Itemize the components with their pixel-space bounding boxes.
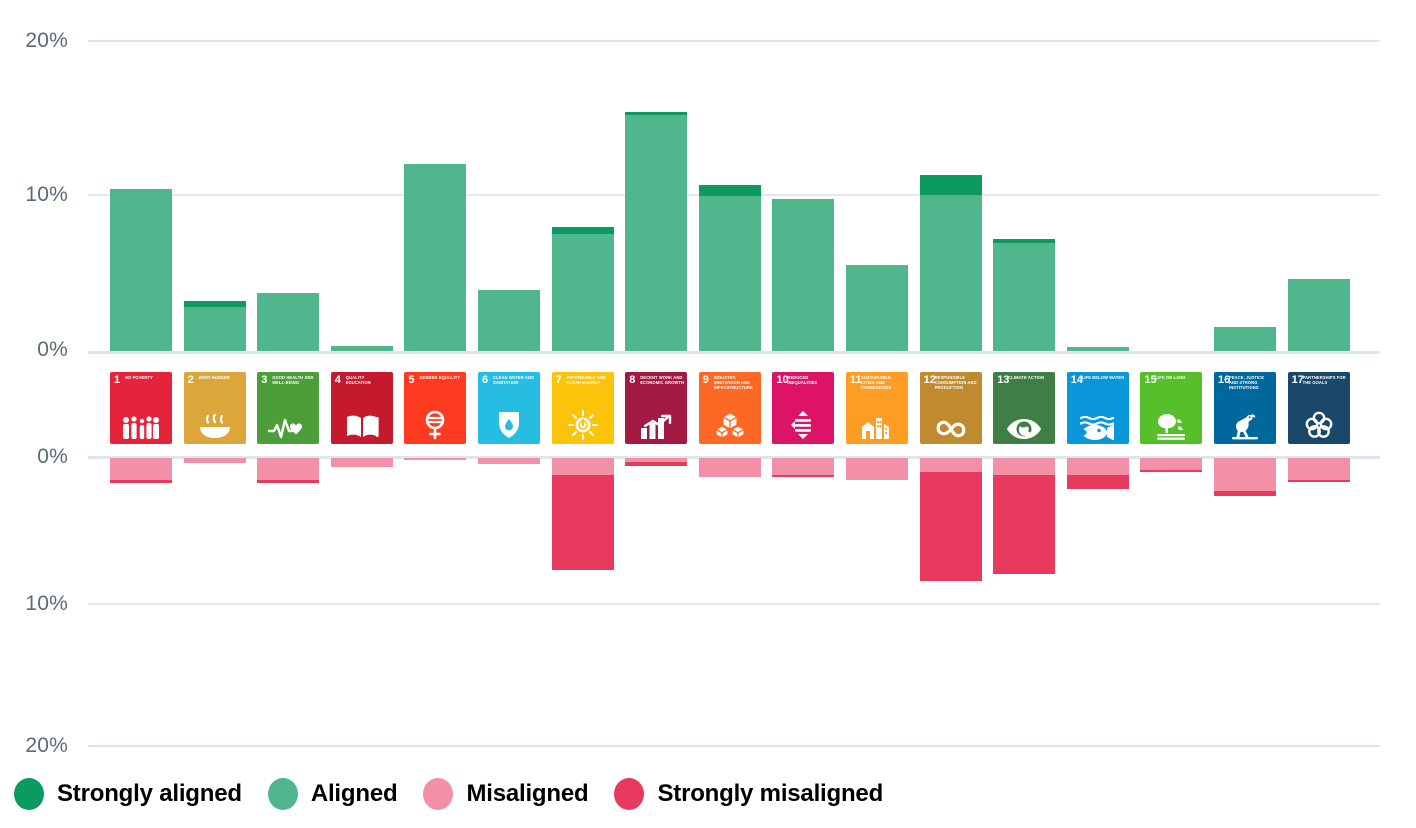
segment-misaligned-sdg-9 [699, 458, 761, 477]
chart-legend: Strongly alignedAlignedMisalignedStrongl… [14, 772, 909, 816]
bar-negative-sdg-15 [1140, 458, 1202, 472]
segment-aligned-sdg-17 [1288, 279, 1350, 351]
sdg-icon-5[interactable]: 5Gender Equality [404, 372, 466, 444]
sdg-number-9: 9 [703, 375, 709, 386]
bar-positive-sdg-4 [331, 346, 393, 351]
segment-aligned-sdg-13 [993, 243, 1055, 351]
segment-strongly-misaligned-sdg-3 [257, 480, 319, 484]
legend-item-aligned[interactable]: Aligned [268, 778, 398, 810]
segment-aligned-sdg-16 [1214, 327, 1276, 351]
city-icon [846, 412, 908, 440]
legend-label-aligned: Aligned [311, 780, 398, 808]
bar-positive-sdg-2 [184, 301, 246, 351]
segment-strongly-misaligned-sdg-10 [772, 475, 834, 477]
sdg-title-2: Zero Hunger [199, 376, 243, 381]
sdg-icon-3[interactable]: 3Good Health and Well-being [257, 372, 319, 444]
segment-misaligned-sdg-4 [331, 458, 393, 467]
segment-misaligned-sdg-5 [404, 458, 466, 460]
sdg-icon-8[interactable]: 8Decent Work and Economic Growth [625, 372, 687, 444]
sdg-number-3: 3 [261, 375, 267, 386]
bar-negative-sdg-9 [699, 458, 761, 477]
segment-aligned-sdg-12 [920, 195, 982, 351]
bar-negative-sdg-16 [1214, 458, 1276, 496]
bar-positive-sdg-6 [478, 290, 540, 351]
bar-positive-sdg-7 [552, 227, 614, 351]
segment-strongly-misaligned-sdg-17 [1288, 480, 1350, 483]
segment-strongly-misaligned-sdg-16 [1214, 491, 1276, 496]
water-icon [478, 410, 540, 440]
sdg-icon-15[interactable]: 15Life on Land [1140, 372, 1202, 444]
sdg-icon-9[interactable]: 9Industry, Innovation and Infrastructure [699, 372, 761, 444]
sdg-title-3: Good Health and Well-being [272, 376, 316, 386]
bar-positive-sdg-1 [110, 189, 172, 351]
sdg-icon-row: 1No Poverty2Zero Hunger3Good Health and … [0, 372, 1416, 444]
bar-positive-sdg-3 [257, 293, 319, 351]
sdg-number-7: 7 [556, 375, 562, 386]
segment-aligned-sdg-2 [184, 307, 246, 351]
sdg-icon-17[interactable]: 17Partnerships for the Goals [1288, 372, 1350, 444]
legend-swatch-strongly_aligned [14, 778, 44, 810]
sdg-title-14: Life Below Water [1082, 376, 1126, 381]
segment-misaligned-sdg-11 [846, 458, 908, 480]
sdg-title-12: Responsible Consumption and Production [935, 376, 979, 390]
heartbeat-icon [257, 413, 319, 440]
bar-negative-sdg-4 [331, 458, 393, 467]
sdg-icon-6[interactable]: 6Clean Water and Sanitation [478, 372, 540, 444]
sdg-title-11: Sustainable Cities and Communities [861, 376, 905, 390]
sdg-number-5: 5 [408, 375, 414, 386]
bar-positive-sdg-16 [1214, 327, 1276, 351]
bar-positive-sdg-9 [699, 185, 761, 351]
tree-icon [1140, 411, 1202, 440]
segment-aligned-sdg-4 [331, 346, 393, 351]
sdg-icon-11[interactable]: 11Sustainable Cities and Communities [846, 372, 908, 444]
legend-label-strongly_misaligned: Strongly misaligned [657, 780, 883, 808]
bar-positive-sdg-17 [1288, 279, 1350, 351]
bar-negative-sdg-14 [1067, 458, 1129, 489]
cubes-icon [699, 411, 761, 440]
segment-misaligned-sdg-7 [552, 458, 614, 475]
bar-positive-sdg-11 [846, 265, 908, 351]
sdg-icon-4[interactable]: 4Quality Education [331, 372, 393, 444]
sdg-icon-1[interactable]: 1No Poverty [110, 372, 172, 444]
bar-negative-sdg-7 [552, 458, 614, 570]
bar-negative-sdg-6 [478, 458, 540, 464]
legend-swatch-strongly_misaligned [614, 778, 644, 810]
segment-strongly-aligned-sdg-9 [699, 185, 761, 197]
legend-label-misaligned: Misaligned [466, 780, 588, 808]
sdg-title-10: Reduced Inequalities [787, 376, 831, 386]
segment-strongly-misaligned-sdg-7 [552, 475, 614, 570]
sdg-title-5: Gender Equality [419, 376, 463, 381]
legend-item-strongly_misaligned[interactable]: Strongly misaligned [614, 778, 883, 810]
fish-icon [1067, 412, 1129, 440]
segment-misaligned-sdg-2 [184, 458, 246, 463]
segment-strongly-aligned-sdg-12 [920, 175, 982, 194]
segment-strongly-misaligned-sdg-8 [625, 462, 687, 466]
sdg-number-1: 1 [114, 375, 120, 386]
gender-icon [404, 410, 466, 440]
segment-aligned-sdg-9 [699, 196, 761, 351]
segment-strongly-misaligned-sdg-15 [1140, 470, 1202, 471]
segment-misaligned-sdg-3 [257, 458, 319, 480]
sdg-number-4: 4 [335, 375, 341, 386]
segment-misaligned-sdg-6 [478, 458, 540, 464]
segment-aligned-sdg-11 [846, 265, 908, 351]
legend-swatch-aligned [268, 778, 298, 810]
sdg-number-11: 11 [850, 375, 862, 386]
segment-strongly-misaligned-sdg-13 [993, 475, 1055, 574]
sdg-alignment-chart: 20% 10% 0% 0% 10% 20% 1No Poverty2Zero H… [0, 0, 1416, 828]
segment-misaligned-sdg-1 [110, 458, 172, 480]
sdg-number-6: 6 [482, 375, 488, 386]
sdg-title-1: No Poverty [125, 376, 169, 381]
segment-misaligned-sdg-16 [1214, 458, 1276, 491]
sdg-title-15: Life on Land [1155, 376, 1199, 381]
segment-strongly-misaligned-sdg-12 [920, 472, 982, 581]
legend-item-strongly_aligned[interactable]: Strongly aligned [14, 778, 242, 810]
book-icon [331, 412, 393, 440]
bar-negative-sdg-12 [920, 458, 982, 581]
segment-misaligned-sdg-12 [920, 458, 982, 472]
infinity-icon [920, 414, 982, 440]
bar-positive-sdg-13 [993, 239, 1055, 351]
legend-label-strongly_aligned: Strongly aligned [57, 780, 242, 808]
sdg-title-17: Partnerships for the Goals [1303, 376, 1347, 386]
segment-misaligned-sdg-17 [1288, 458, 1350, 480]
sdg-title-13: Climate Action [1008, 376, 1052, 381]
bar-negative-sdg-11 [846, 458, 908, 480]
growth-icon [625, 412, 687, 440]
segment-aligned-sdg-5 [404, 164, 466, 351]
sdg-icon-12[interactable]: 12Responsible Consumption and Production [920, 372, 982, 444]
sdg-title-4: Quality Education [346, 376, 390, 386]
bar-negative-sdg-1 [110, 458, 172, 483]
sun-icon [552, 410, 614, 440]
bar-positive-sdg-5 [404, 164, 466, 351]
sdg-title-9: Industry, Innovation and Infrastructure [714, 376, 758, 390]
sdg-title-7: Affordable and Clean Energy [567, 376, 611, 386]
bar-positive-sdg-8 [625, 112, 687, 351]
bowl-icon [184, 412, 246, 440]
segment-aligned-sdg-1 [110, 189, 172, 351]
segment-aligned-sdg-10 [772, 199, 834, 351]
bar-negative-sdg-8 [625, 458, 687, 466]
sdg-title-6: Clean Water and Sanitation [493, 376, 537, 386]
rings-icon [1288, 410, 1350, 440]
legend-item-misaligned[interactable]: Misaligned [423, 778, 588, 810]
segment-misaligned-sdg-10 [772, 458, 834, 475]
legend-swatch-misaligned [423, 778, 453, 810]
sdg-icon-16[interactable]: 16Peace, Justice and Strong Institutions [1214, 372, 1276, 444]
segment-aligned-sdg-6 [478, 290, 540, 351]
sdg-icon-2[interactable]: 2Zero Hunger [184, 372, 246, 444]
segment-misaligned-sdg-14 [1067, 458, 1129, 475]
sdg-title-8: Decent Work and Economic Growth [640, 376, 684, 386]
bar-negative-sdg-2 [184, 458, 246, 463]
eye-icon [993, 414, 1055, 440]
dove-icon [1214, 411, 1276, 440]
segment-aligned-sdg-8 [625, 115, 687, 351]
bar-negative-sdg-5 [404, 458, 466, 460]
sdg-icon-13[interactable]: 13Climate Action [993, 372, 1055, 444]
bar-positive-sdg-14 [1067, 347, 1129, 351]
sdg-number-8: 8 [629, 375, 635, 386]
bar-negative-sdg-10 [772, 458, 834, 477]
bar-negative-sdg-13 [993, 458, 1055, 574]
sdg-icon-7[interactable]: 7Affordable and Clean Energy [552, 372, 614, 444]
segment-misaligned-sdg-15 [1140, 458, 1202, 470]
bar-positive-sdg-10 [772, 199, 834, 351]
sdg-number-2: 2 [188, 375, 194, 386]
segment-aligned-sdg-3 [257, 293, 319, 351]
segment-strongly-aligned-sdg-7 [552, 227, 614, 234]
bar-negative-sdg-17 [1288, 458, 1350, 482]
segment-strongly-misaligned-sdg-14 [1067, 475, 1129, 489]
equal-icon [772, 410, 834, 440]
sdg-icon-10[interactable]: 10Reduced Inequalities [772, 372, 834, 444]
people-icon [110, 413, 172, 440]
segment-aligned-sdg-7 [552, 234, 614, 351]
bar-positive-sdg-12 [920, 175, 982, 351]
sdg-title-16: Peace, Justice and Strong Institutions [1229, 376, 1273, 390]
segment-aligned-sdg-14 [1067, 347, 1129, 351]
sdg-icon-14[interactable]: 14Life Below Water [1067, 372, 1129, 444]
segment-strongly-misaligned-sdg-1 [110, 480, 172, 483]
bar-negative-sdg-3 [257, 458, 319, 483]
segment-misaligned-sdg-13 [993, 458, 1055, 475]
